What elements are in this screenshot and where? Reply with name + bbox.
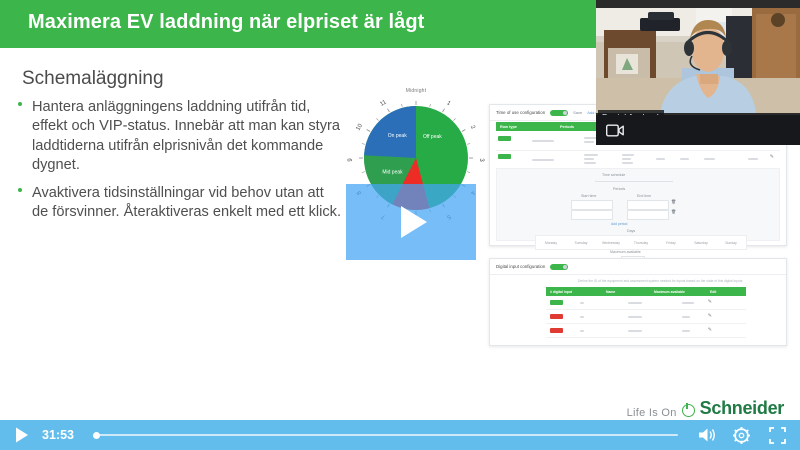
cell-text-placeholder [584, 141, 594, 143]
cell-text-placeholder [704, 158, 715, 160]
form-label-max-available: Maximum available [610, 250, 641, 254]
seek-bar-handle[interactable] [93, 432, 100, 439]
digital-input-configuration-screenshot: Digital input configuration Define the I… [489, 258, 787, 346]
slide-subheading: Schemaläggning [22, 68, 164, 90]
cell-text-placeholder [584, 154, 598, 156]
column-header-index: # digital input [546, 290, 606, 294]
form-field-underline[interactable] [595, 181, 673, 182]
column-header-rowtype: Row type [500, 125, 560, 129]
slide-title: Maximera EV laddning när elpriset är låg… [28, 11, 424, 34]
cell-text-placeholder [682, 302, 694, 304]
status-badge[interactable] [498, 154, 511, 159]
life-is-on-power-icon [682, 404, 695, 417]
cell-text-placeholder [680, 158, 689, 160]
center-play-overlay[interactable] [346, 184, 476, 260]
camera-icon[interactable] [606, 124, 624, 137]
svg-text:Off peak: Off peak [423, 134, 442, 140]
form-label-days: Days [627, 229, 635, 233]
status-badge[interactable] [550, 328, 563, 333]
end-time-input[interactable] [627, 210, 669, 220]
cell-text-placeholder [682, 330, 690, 332]
day-thursday[interactable]: Thursday [626, 241, 656, 245]
cell-text-placeholder [682, 316, 690, 318]
bullet-text: Avaktivera tidsinställningar vid behov u… [32, 184, 342, 223]
cell-text-placeholder [628, 302, 642, 304]
day-friday[interactable]: Friday [656, 241, 686, 245]
webcam-video-frame [596, 8, 800, 113]
cell-text-placeholder [628, 316, 642, 318]
digital-input-note: Define the ID of the equipment and asses… [578, 279, 742, 283]
enable-toggle[interactable] [550, 110, 568, 116]
day-monday[interactable]: Monday [536, 241, 566, 245]
webcam-overlay[interactable]: Daniel Asplund [596, 0, 800, 145]
cell-text-placeholder [580, 302, 584, 304]
svg-text:10: 10 [355, 123, 364, 132]
edit-icon[interactable]: ✎ [708, 314, 712, 319]
gear-icon [733, 427, 750, 444]
table-row[interactable]: ✎ [546, 310, 746, 324]
cell-text-placeholder [628, 330, 642, 332]
table-row[interactable]: ✎ [546, 324, 746, 338]
svg-text:12: 12 [413, 96, 420, 98]
cell-text-placeholder [532, 159, 554, 161]
cell-text-placeholder [622, 158, 631, 160]
edit-icon[interactable]: ✎ [708, 300, 712, 305]
video-player-stage: Maximera EV laddning när elpriset är låg… [0, 0, 800, 450]
form-label-schedule-name: Time schedule [602, 173, 625, 177]
cell-text-placeholder [580, 330, 584, 332]
svg-text:9: 9 [348, 158, 354, 162]
day-sunday[interactable]: Sunday [716, 241, 746, 245]
form-label-start-time: Start time [581, 194, 596, 198]
start-time-input[interactable] [571, 200, 613, 210]
svg-text:3: 3 [478, 158, 484, 162]
fullscreen-button[interactable] [758, 420, 796, 450]
cell-text-placeholder [584, 158, 594, 160]
status-badge[interactable] [550, 300, 563, 305]
webcam-toolbar [596, 115, 800, 145]
config-panel-title: Time of use configuration [496, 110, 545, 115]
current-time-label: 31:53 [42, 428, 74, 442]
save-link[interactable]: Save [573, 110, 582, 115]
day-saturday[interactable]: Saturday [686, 241, 716, 245]
svg-text:11: 11 [379, 99, 388, 108]
volume-icon [698, 427, 716, 443]
cell-text-placeholder [622, 162, 633, 164]
column-header-name: Name [606, 290, 654, 294]
svg-text:On peak: On peak [388, 133, 407, 139]
svg-text:Mid peak: Mid peak [382, 169, 403, 175]
schedule-edit-form: Time schedule Periods Start time End tim… [496, 168, 780, 241]
brand-name: Schneider [700, 398, 784, 419]
end-time-input[interactable] [627, 200, 669, 210]
play-icon [401, 206, 427, 238]
clock-midnight-label: Midnight [346, 88, 486, 94]
table-row[interactable]: ✎ [546, 296, 746, 310]
digital-input-table-header: # digital input Name Maximum available E… [546, 287, 746, 296]
cell-text-placeholder [580, 316, 584, 318]
volume-button[interactable] [690, 420, 724, 450]
day-tuesday[interactable]: Tuesday [566, 241, 596, 245]
settings-button[interactable] [724, 420, 758, 450]
column-header-max: Maximum available [654, 290, 710, 294]
video-control-bar: 31:53 [0, 420, 800, 450]
bullet-dot-icon [18, 188, 22, 192]
list-item: Hantera anläggningens laddning utifrån t… [12, 98, 342, 175]
bullet-text: Hantera anläggningens laddning utifrån t… [32, 98, 342, 175]
slide-bullet-list: Hantera anläggningens laddning utifrån t… [12, 98, 342, 232]
form-label-periods: Periods [613, 187, 625, 191]
table-row[interactable]: ✎ [496, 150, 780, 169]
play-icon [15, 427, 29, 443]
enable-toggle[interactable] [550, 264, 568, 270]
play-button[interactable] [0, 420, 44, 450]
add-period-link[interactable]: Add period [611, 222, 627, 226]
cell-text-placeholder [748, 158, 758, 160]
life-is-on-tagline: Life Is On [627, 407, 677, 419]
bullet-dot-icon [18, 102, 22, 106]
cell-text-placeholder [532, 140, 554, 142]
cell-text-placeholder [622, 154, 634, 156]
svg-text:1: 1 [446, 100, 452, 107]
day-wednesday[interactable]: Wednesday [596, 241, 626, 245]
digital-input-panel-header: Digital input configuration [490, 259, 786, 275]
cell-text-placeholder [656, 158, 665, 160]
seek-bar-track[interactable] [96, 434, 678, 436]
edit-icon[interactable]: ✎ [770, 155, 774, 160]
svg-text:2: 2 [469, 125, 476, 131]
fullscreen-icon [769, 427, 786, 444]
cell-text-placeholder [584, 162, 596, 164]
list-item: Avaktivera tidsinställningar vid behov u… [12, 184, 342, 223]
seek-bar[interactable] [84, 420, 690, 450]
status-badge[interactable] [498, 136, 511, 141]
delete-icon[interactable]: 🗑 [671, 200, 745, 204]
edit-icon[interactable]: ✎ [708, 328, 712, 333]
schneider-electric-logo: Life Is On Schneider [627, 398, 784, 419]
digital-input-panel-title: Digital input configuration [496, 264, 545, 269]
column-header-edit: Edit [710, 290, 746, 294]
days-of-week-row[interactable]: Monday Tuesday Wednesday Thursday Friday… [535, 235, 747, 250]
form-label-end-time: End time [637, 194, 651, 198]
digital-input-table: # digital input Name Maximum available E… [546, 287, 746, 338]
delete-icon[interactable]: 🗑 [671, 210, 745, 214]
status-badge[interactable] [550, 314, 563, 319]
start-time-input[interactable] [571, 210, 613, 220]
